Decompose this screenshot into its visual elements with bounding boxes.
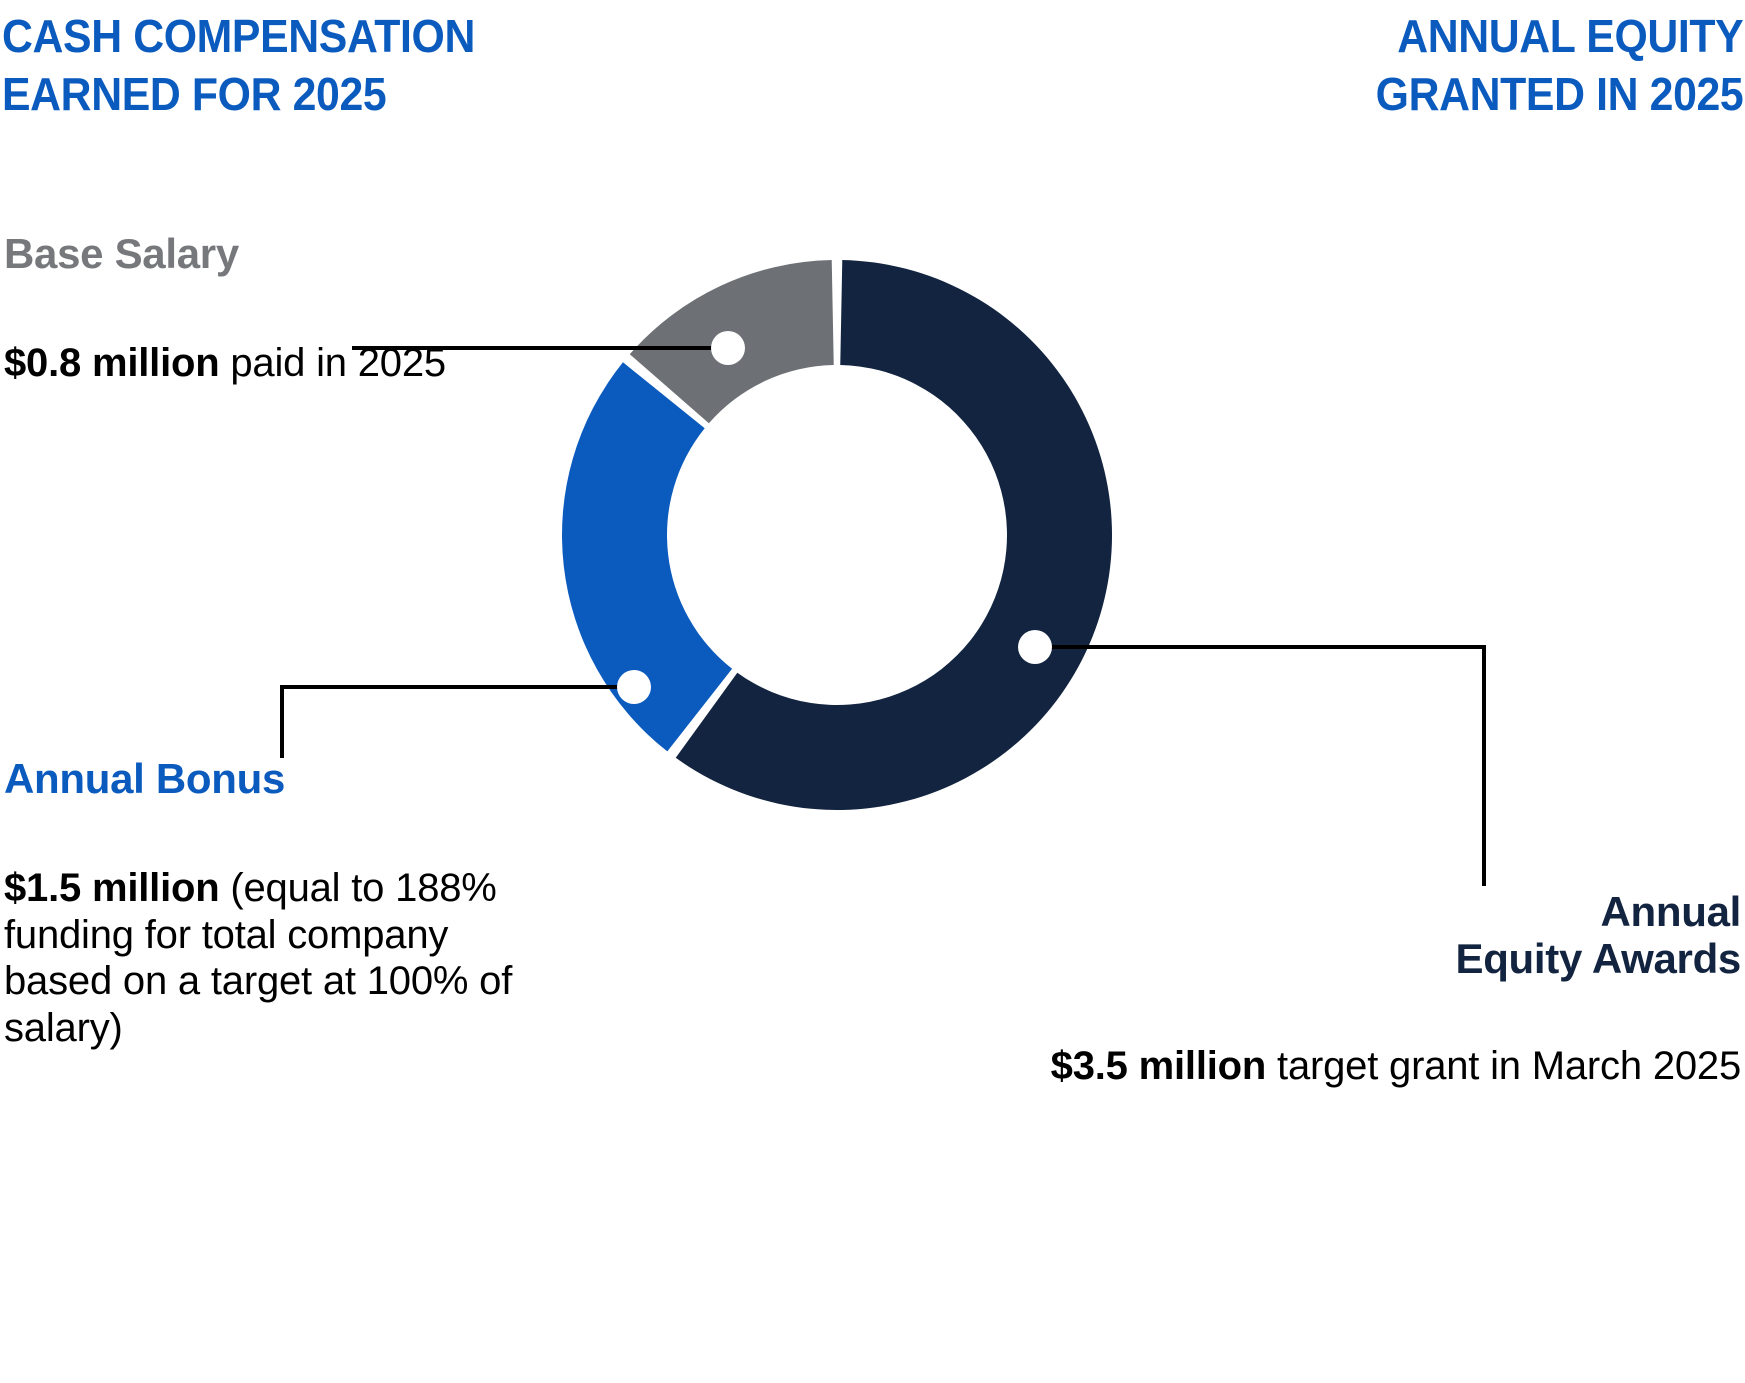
leader-dot-equity-awards xyxy=(1018,630,1052,664)
callout-base-salary-amount: $0.8 million xyxy=(4,341,219,385)
callout-equity-awards-detail: target grant in March 2025 xyxy=(1266,1044,1741,1088)
callout-annual-bonus-amount: $1.5 million xyxy=(4,866,219,910)
callout-base-salary-detail: paid in 2025 xyxy=(219,341,445,385)
callout-base-salary-body: $0.8 million paid in 2025 xyxy=(4,293,474,387)
leader-dot-annual-bonus xyxy=(617,670,651,704)
callout-base-salary: Base Salary $0.8 million paid in 2025 xyxy=(4,230,474,387)
callout-equity-awards-body: $3.5 million target grant in March 2025 xyxy=(1041,996,1741,1090)
leader-line-annual-bonus xyxy=(282,687,634,758)
callout-equity-awards: Annual Equity Awards $3.5 million target… xyxy=(1041,888,1741,1090)
leader-dot-base-salary xyxy=(711,331,745,365)
callout-equity-awards-title: Annual Equity Awards xyxy=(1041,888,1741,982)
infographic-root: CASH COMPENSATION EARNED FOR 2025 ANNUAL… xyxy=(0,0,1745,1383)
callout-base-salary-title: Base Salary xyxy=(4,230,474,277)
callout-annual-bonus: Annual Bonus $1.5 million (equal to 188%… xyxy=(4,755,524,1052)
leader-line-equity-awards xyxy=(1035,647,1484,886)
compensation-donut-chart xyxy=(0,0,1745,1383)
callout-annual-bonus-body: $1.5 million (equal to 188% funding for … xyxy=(4,818,524,1052)
callout-equity-awards-amount: $3.5 million xyxy=(1051,1044,1266,1088)
callout-annual-bonus-title: Annual Bonus xyxy=(4,755,524,802)
